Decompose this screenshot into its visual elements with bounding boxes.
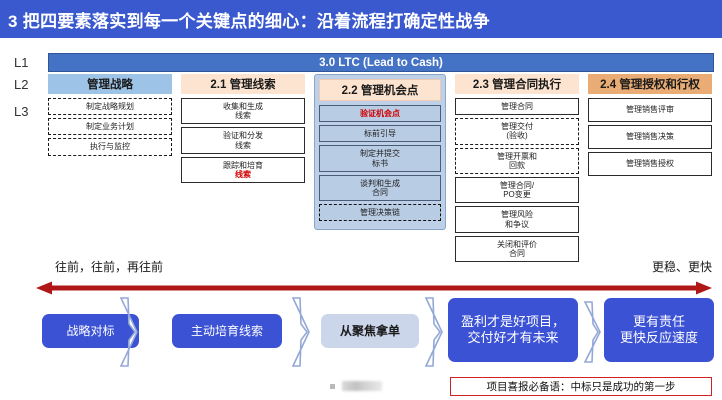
redacted-text — [330, 381, 388, 392]
process-cell[interactable]: 执行与监控 — [48, 138, 172, 155]
cell-line-2: 线索 — [235, 141, 251, 150]
bottom-box-line: 主动培育线索 — [191, 324, 263, 339]
process-cell[interactable]: 管理合同/ PO变更 — [455, 177, 579, 203]
process-column-manage-contract-execution: 2.3 管理合同执行 管理合同 管理交付 (验收) 管理开票和 回款 管理合同/… — [455, 74, 579, 262]
l1-process-bar-label: 3.0 LTC (Lead to Cash) — [319, 57, 443, 69]
bottom-box[interactable]: 更有责任 更快反应速度 — [604, 298, 714, 362]
process-cell[interactable]: 管理交付 (验收) — [455, 118, 579, 144]
blurred-label — [342, 381, 382, 391]
bottom-box-line: 从聚焦拿单 — [340, 324, 400, 339]
bottom-box[interactable]: 盈利才是好项目， 交付好才有未来 — [448, 298, 578, 362]
process-cell[interactable]: 制定战略规划 — [48, 98, 172, 115]
chevron-right-icon — [418, 296, 448, 368]
process-cell[interactable]: 管理风险 和争议 — [455, 206, 579, 232]
process-cell[interactable]: 验证和分发 线索 — [181, 127, 305, 153]
column-header: 2.4 管理授权和行权 — [588, 74, 712, 94]
opportunity-panel: 2.2 管理机会点 验证机会点 标前引导 制定并提交 标书 谈判和生成 合同 — [314, 74, 446, 230]
process-column-manage-authorization: 2.4 管理授权和行权 管理销售评审 管理销售决策 管理销售授权 — [588, 74, 712, 176]
bottom-box-line: 更有责任 — [633, 314, 685, 330]
column-cells: 收集和生成 线索 验证和分发 线索 跟踪和培育 线索 — [181, 98, 305, 183]
cell-line-1: 管理开票和 — [497, 152, 537, 161]
caption-left: 往前，往前，再往前 — [55, 258, 163, 275]
cell-line-1: 跟踪和培育 — [223, 161, 263, 170]
caption-right: 更稳、更快 — [652, 258, 712, 275]
process-cell[interactable]: 关闭和评价 合同 — [455, 236, 579, 262]
cell-line-2: (验收) — [506, 131, 527, 140]
bullet-icon — [330, 384, 335, 389]
process-cell[interactable]: 管理合同 — [455, 98, 579, 115]
process-cell[interactable]: 管理销售授权 — [588, 152, 712, 176]
process-cell[interactable]: 管理决策链 — [319, 204, 441, 221]
cell-line-1: 验证和分发 — [223, 131, 263, 140]
process-cell-highlighted[interactable]: 跟踪和培育 线索 — [181, 157, 305, 183]
bottom-box-line: 盈利才是好项目， — [461, 314, 565, 330]
process-column-manage-opportunities: 2.2 管理机会点 验证机会点 标前引导 制定并提交 标书 谈判和生成 合同 — [314, 74, 446, 230]
process-cell-highlighted[interactable]: 验证机会点 — [319, 105, 441, 122]
cell-line-2-highlight: 线索 — [235, 170, 251, 179]
cell-line-2: 合同 — [509, 249, 525, 258]
process-cell[interactable]: 收集和生成 线索 — [181, 98, 305, 124]
slide-root: 3 把四要素落实到每一个关键点的细心：沿着流程打确定性战争 L1 L2 L3 3… — [0, 0, 722, 400]
footnote-box: 项目喜报必备语：中标只是成功的第一步 — [450, 377, 712, 396]
cell-line-1: 谈判和生成 — [360, 179, 400, 188]
process-cell[interactable]: 管理销售评审 — [588, 98, 712, 122]
level-label-l1: L1 — [14, 55, 28, 70]
bottom-box-line: 交付好才有未来 — [467, 330, 558, 346]
process-cell[interactable]: 管理销售决策 — [588, 125, 712, 149]
process-columns: 管理战略 制定战略规划 制定业务计划 执行与监控 2.1 管理线索 收集和生成 … — [48, 74, 712, 249]
chevron-right-icon — [285, 296, 315, 368]
process-cell[interactable]: 制定并提交 标书 — [319, 145, 441, 171]
bottom-box[interactable]: 从聚焦拿单 — [321, 314, 419, 348]
double-headed-arrow-icon — [36, 281, 712, 295]
bottom-box-line: 战略对标 — [66, 324, 114, 339]
column-cells: 制定战略规划 制定业务计划 执行与监控 — [48, 98, 172, 156]
chevron-right-icon — [578, 296, 606, 368]
column-header: 2.2 管理机会点 — [319, 79, 441, 101]
process-column-manage-strategy: 管理战略 制定战略规划 制定业务计划 执行与监控 — [48, 74, 172, 156]
bottom-box-line: 更快反应速度 — [620, 330, 698, 346]
column-header: 管理战略 — [48, 74, 172, 94]
column-cells: 验证机会点 标前引导 制定并提交 标书 谈判和生成 合同 管理决策链 — [319, 105, 441, 221]
page-title: 3 把四要素落实到每一个关键点的细心：沿着流程打确定性战争 — [0, 7, 490, 32]
cell-line-1: 收集和生成 — [223, 102, 263, 111]
process-cell[interactable]: 制定业务计划 — [48, 118, 172, 135]
cell-line-2: 线索 — [235, 111, 251, 120]
cell-line-2: 合同 — [372, 188, 388, 197]
chevron-right-icon — [113, 296, 143, 368]
cell-line-1: 管理合同/ — [500, 181, 534, 190]
process-cell[interactable]: 管理开票和 回款 — [455, 148, 579, 174]
column-header: 2.1 管理线索 — [181, 74, 305, 94]
cell-line-2: 回款 — [509, 161, 525, 170]
process-cell[interactable]: 谈判和生成 合同 — [319, 175, 441, 201]
slide-title-band: 3 把四要素落实到每一个关键点的细心：沿着流程打确定性战争 — [0, 0, 722, 38]
bottom-box[interactable]: 主动培育线索 — [172, 314, 282, 348]
cell-line-2: PO变更 — [503, 190, 531, 199]
bottom-message-row: 战略对标 主动培育线索 从聚焦拿单 盈利才是好项目， 交付好才有未来 更有责任 … — [0, 296, 722, 371]
column-cells: 管理销售评审 管理销售决策 管理销售授权 — [588, 98, 712, 176]
column-header: 2.3 管理合同执行 — [455, 74, 579, 94]
level-label-l2: L2 — [14, 77, 28, 92]
cell-line-1: 管理交付 — [501, 122, 533, 131]
level-label-l3: L3 — [14, 104, 28, 119]
process-column-manage-leads: 2.1 管理线索 收集和生成 线索 验证和分发 线索 跟踪和培育 线索 — [181, 74, 305, 183]
cell-line-1: 管理风险 — [501, 210, 533, 219]
cell-line-1: 制定并提交 — [360, 149, 400, 158]
process-cell[interactable]: 标前引导 — [319, 125, 441, 142]
cell-line-1: 关闭和评价 — [497, 240, 537, 249]
cell-label: 验证机会点 — [360, 109, 400, 118]
cell-line-2: 和争议 — [505, 220, 529, 229]
cell-line-2: 标书 — [372, 159, 388, 168]
l1-process-bar: 3.0 LTC (Lead to Cash) — [48, 53, 714, 72]
column-cells: 管理合同 管理交付 (验收) 管理开票和 回款 管理合同/ PO变更 管理风险 — [455, 98, 579, 262]
